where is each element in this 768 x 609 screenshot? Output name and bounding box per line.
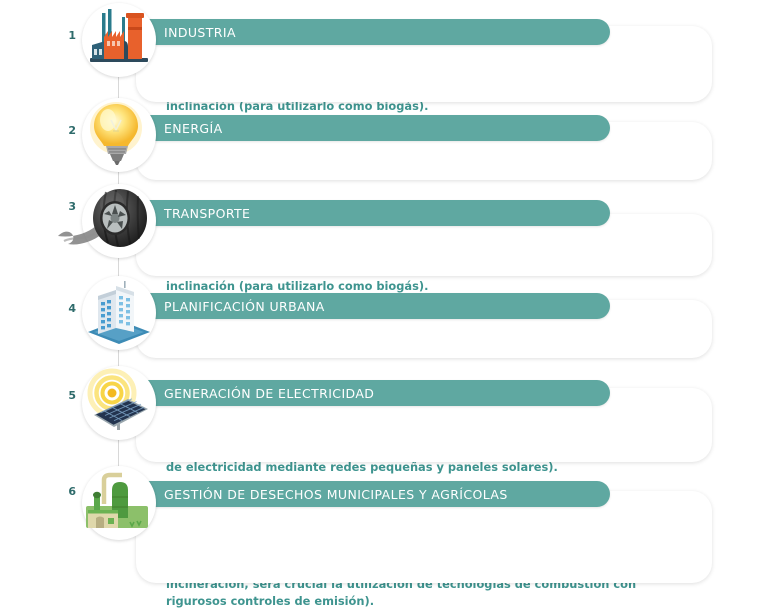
- lightbulb-icon: [82, 98, 156, 172]
- tire-icon: [82, 184, 156, 258]
- section-number-3: 3: [58, 200, 76, 213]
- office-building-icon: [82, 276, 156, 350]
- section-number-4: 4: [58, 302, 76, 315]
- title-pill-4[interactable]: PLANIFICACIÓN URBANA: [146, 293, 610, 319]
- section-title-2: ENERGÍA: [146, 121, 223, 136]
- section-number-2: 2: [58, 124, 76, 137]
- section-title-5: GENERACIÓN DE ELECTRICIDAD: [146, 386, 374, 401]
- title-pill-3[interactable]: TRANSPORTE: [146, 200, 610, 226]
- section-number-5: 5: [58, 389, 76, 402]
- section-title-6: GESTIÓN DE DESECHOS MUNICIPALES Y AGRÍCO…: [146, 487, 508, 502]
- infographic-root: INDUSTRIA Emplear tecnologías limpias qu…: [0, 0, 768, 588]
- section-title-4: PLANIFICACIÓN URBANA: [146, 299, 325, 314]
- title-pill-1[interactable]: INDUSTRIA: [146, 19, 610, 45]
- section-number-6: 6: [58, 485, 76, 498]
- section-number-1: 1: [58, 29, 76, 42]
- biogas-plant-icon: [82, 466, 156, 540]
- title-pill-2[interactable]: ENERGÍA: [146, 115, 610, 141]
- title-pill-5[interactable]: GENERACIÓN DE ELECTRICIDAD: [146, 380, 610, 406]
- section-title-1: INDUSTRIA: [146, 25, 236, 40]
- section-title-3: TRANSPORTE: [146, 206, 250, 221]
- title-pill-6[interactable]: GESTIÓN DE DESECHOS MUNICIPALES Y AGRÍCO…: [146, 481, 610, 507]
- solar-panel-icon: [82, 366, 156, 440]
- factory-icon: [82, 3, 156, 77]
